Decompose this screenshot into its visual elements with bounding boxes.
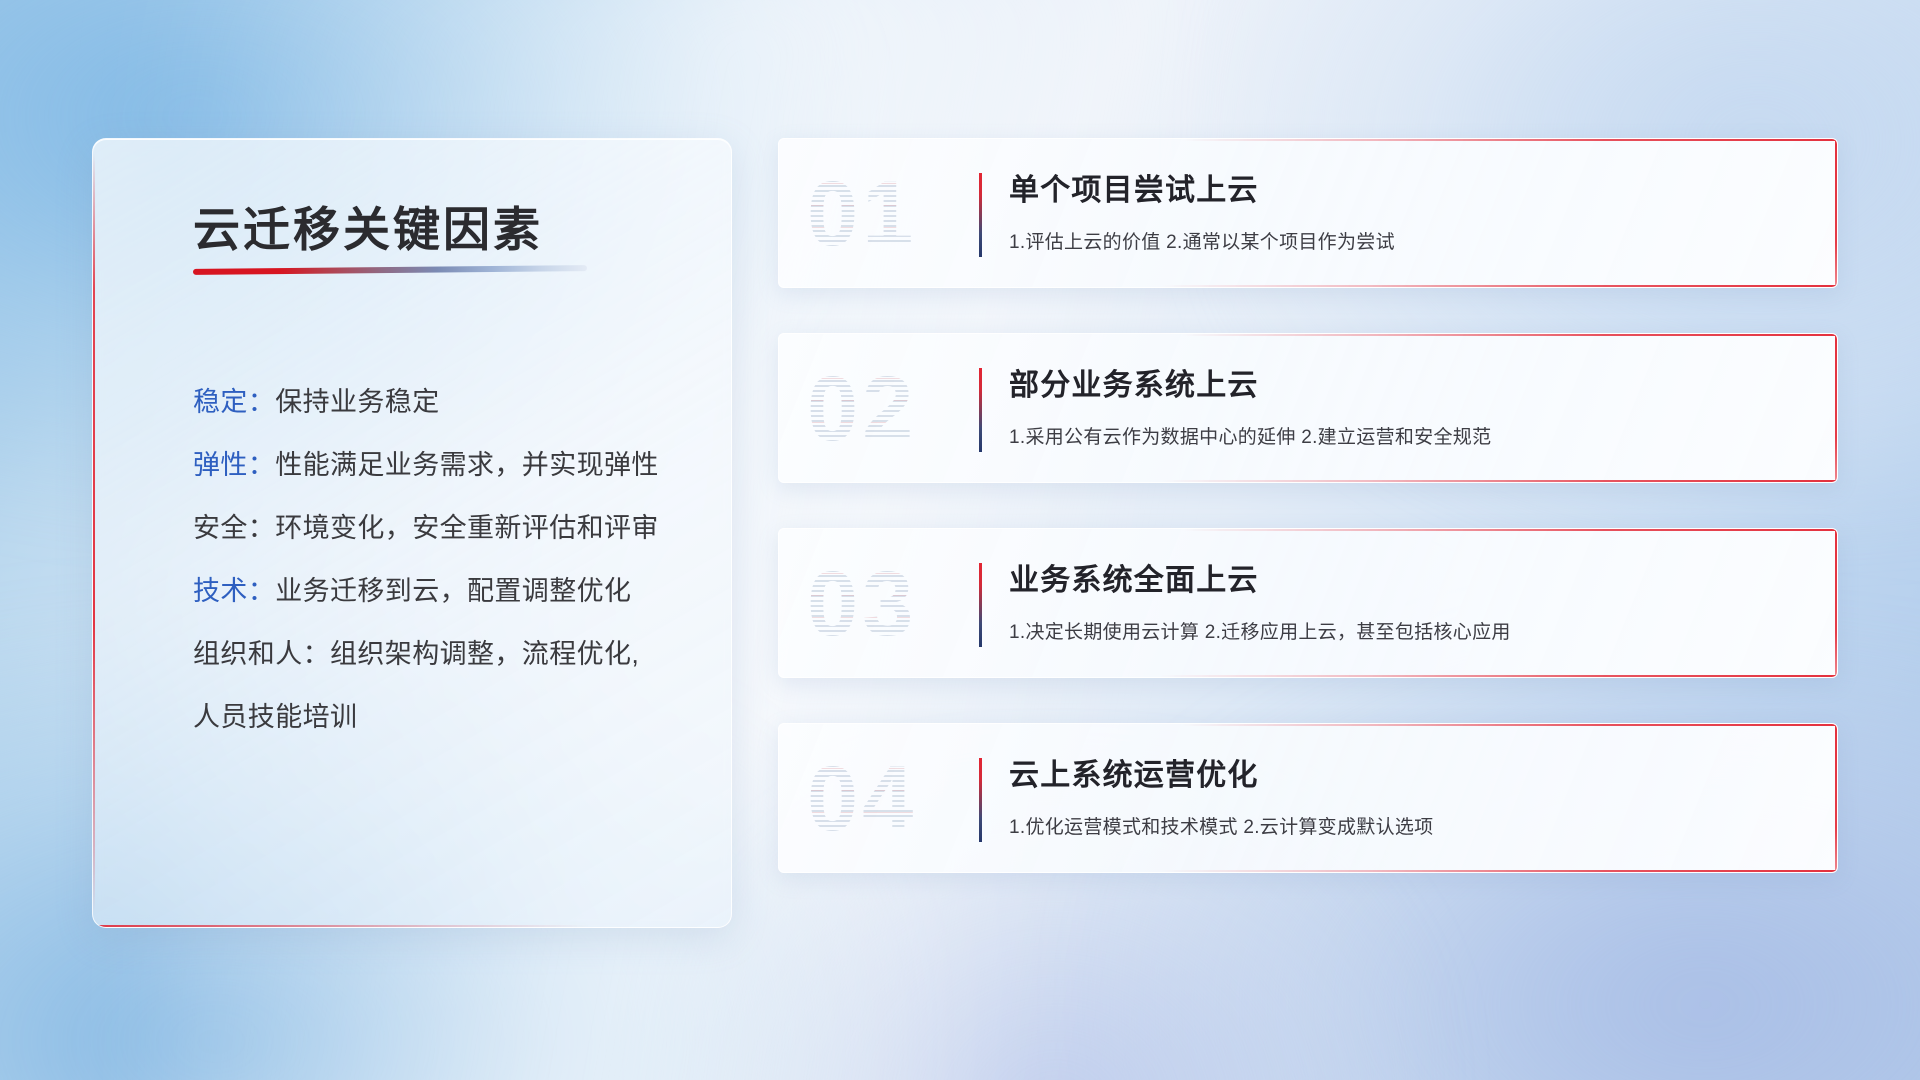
factor-label: 安全：	[193, 513, 275, 543]
card-top-accent-line	[779, 334, 1837, 336]
card-body: 云上系统运营优化 1.优化运营模式和技术模式 2.云计算变成默认选项	[1009, 750, 1797, 839]
factor-text: 环境变化，安全重新评估和评审	[275, 513, 659, 543]
key-factors-panel: 云迁移关键因素 稳定：保持业务稳定 弹性：性能满足业务需求，并实现弹性 安全：环…	[92, 138, 732, 928]
card-title: 云上系统运营优化	[1009, 750, 1797, 794]
stage-card-04[interactable]: 04 04 云上系统运营优化 1.优化运营模式和技术模式 2.云计算变成默认选项	[778, 723, 1838, 873]
stage-number-glyph-tint: 01	[807, 155, 967, 273]
list-item: 组织和人：组织架构调整，流程优化,	[193, 623, 691, 686]
key-factors-list: 稳定：保持业务稳定 弹性：性能满足业务需求，并实现弹性 安全：环境变化，安全重新…	[193, 371, 691, 749]
stage-card-02[interactable]: 02 02 部分业务系统上云 1.采用公有云作为数据中心的延伸 2.建立运营和安…	[778, 333, 1838, 483]
card-divider-bar	[979, 758, 982, 842]
factor-text: 保持业务稳定	[275, 387, 439, 417]
card-divider-bar	[979, 368, 982, 452]
stage-card-01[interactable]: 01 01 单个项目尝试上云 1.评估上云的价值 2.通常以某个项目作为尝试	[778, 138, 1838, 288]
stage-cards-column: 01 01 单个项目尝试上云 1.评估上云的价值 2.通常以某个项目作为尝试 0…	[778, 138, 1838, 918]
factor-label: 技术：	[193, 576, 275, 606]
list-item: 安全：环境变化，安全重新评估和评审	[193, 497, 691, 560]
factor-text: 业务迁移到云，配置调整优化	[275, 576, 631, 606]
list-item: 技术：业务迁移到云，配置调整优化	[193, 560, 691, 623]
card-bottom-accent-line	[779, 870, 1837, 872]
slide-content: 云迁移关键因素 稳定：保持业务稳定 弹性：性能满足业务需求，并实现弹性 安全：环…	[0, 0, 1920, 1080]
card-body: 部分业务系统上云 1.采用公有云作为数据中心的延伸 2.建立运营和安全规范	[1009, 360, 1797, 449]
stage-number-glyph-tint: 03	[807, 545, 967, 663]
list-item-continuation: 人员技能培训	[193, 686, 691, 749]
card-bottom-accent-line	[779, 285, 1837, 287]
card-body: 单个项目尝试上云 1.评估上云的价值 2.通常以某个项目作为尝试	[1009, 165, 1797, 254]
card-title: 业务系统全面上云	[1009, 555, 1797, 599]
list-item: 弹性：性能满足业务需求，并实现弹性	[193, 434, 691, 497]
factor-text: 组织架构调整，流程优化,	[330, 639, 639, 669]
factor-text: 性能满足业务需求，并实现弹性	[275, 450, 659, 480]
card-description: 1.采用公有云作为数据中心的延伸 2.建立运营和安全规范	[1009, 422, 1797, 449]
factor-label: 弹性：	[193, 450, 275, 480]
factor-label: 稳定：	[193, 387, 275, 417]
list-item: 稳定：保持业务稳定	[193, 371, 691, 434]
card-bottom-accent-line	[779, 675, 1837, 677]
card-description: 1.优化运营模式和技术模式 2.云计算变成默认选项	[1009, 812, 1797, 839]
stage-number-glyph-tint: 02	[807, 350, 967, 468]
card-divider-bar	[979, 173, 982, 257]
card-top-accent-line	[779, 724, 1837, 726]
card-title: 部分业务系统上云	[1009, 360, 1797, 404]
stage-card-03[interactable]: 03 03 业务系统全面上云 1.决定长期使用云计算 2.迁移应用上云，甚至包括…	[778, 528, 1838, 678]
card-description: 1.决定长期使用云计算 2.迁移应用上云，甚至包括核心应用	[1009, 617, 1797, 644]
title-underline-rule	[193, 265, 587, 275]
card-bottom-accent-line	[779, 480, 1837, 482]
card-divider-bar	[979, 563, 982, 647]
stage-number-glyph-tint: 04	[807, 740, 967, 858]
card-description: 1.评估上云的价值 2.通常以某个项目作为尝试	[1009, 227, 1797, 254]
card-title: 单个项目尝试上云	[1009, 165, 1797, 209]
card-body: 业务系统全面上云 1.决定长期使用云计算 2.迁移应用上云，甚至包括核心应用	[1009, 555, 1797, 644]
card-top-accent-line	[779, 139, 1837, 141]
card-top-accent-line	[779, 529, 1837, 531]
page-title: 云迁移关键因素	[193, 191, 543, 260]
factor-label: 组织和人：	[193, 639, 330, 669]
